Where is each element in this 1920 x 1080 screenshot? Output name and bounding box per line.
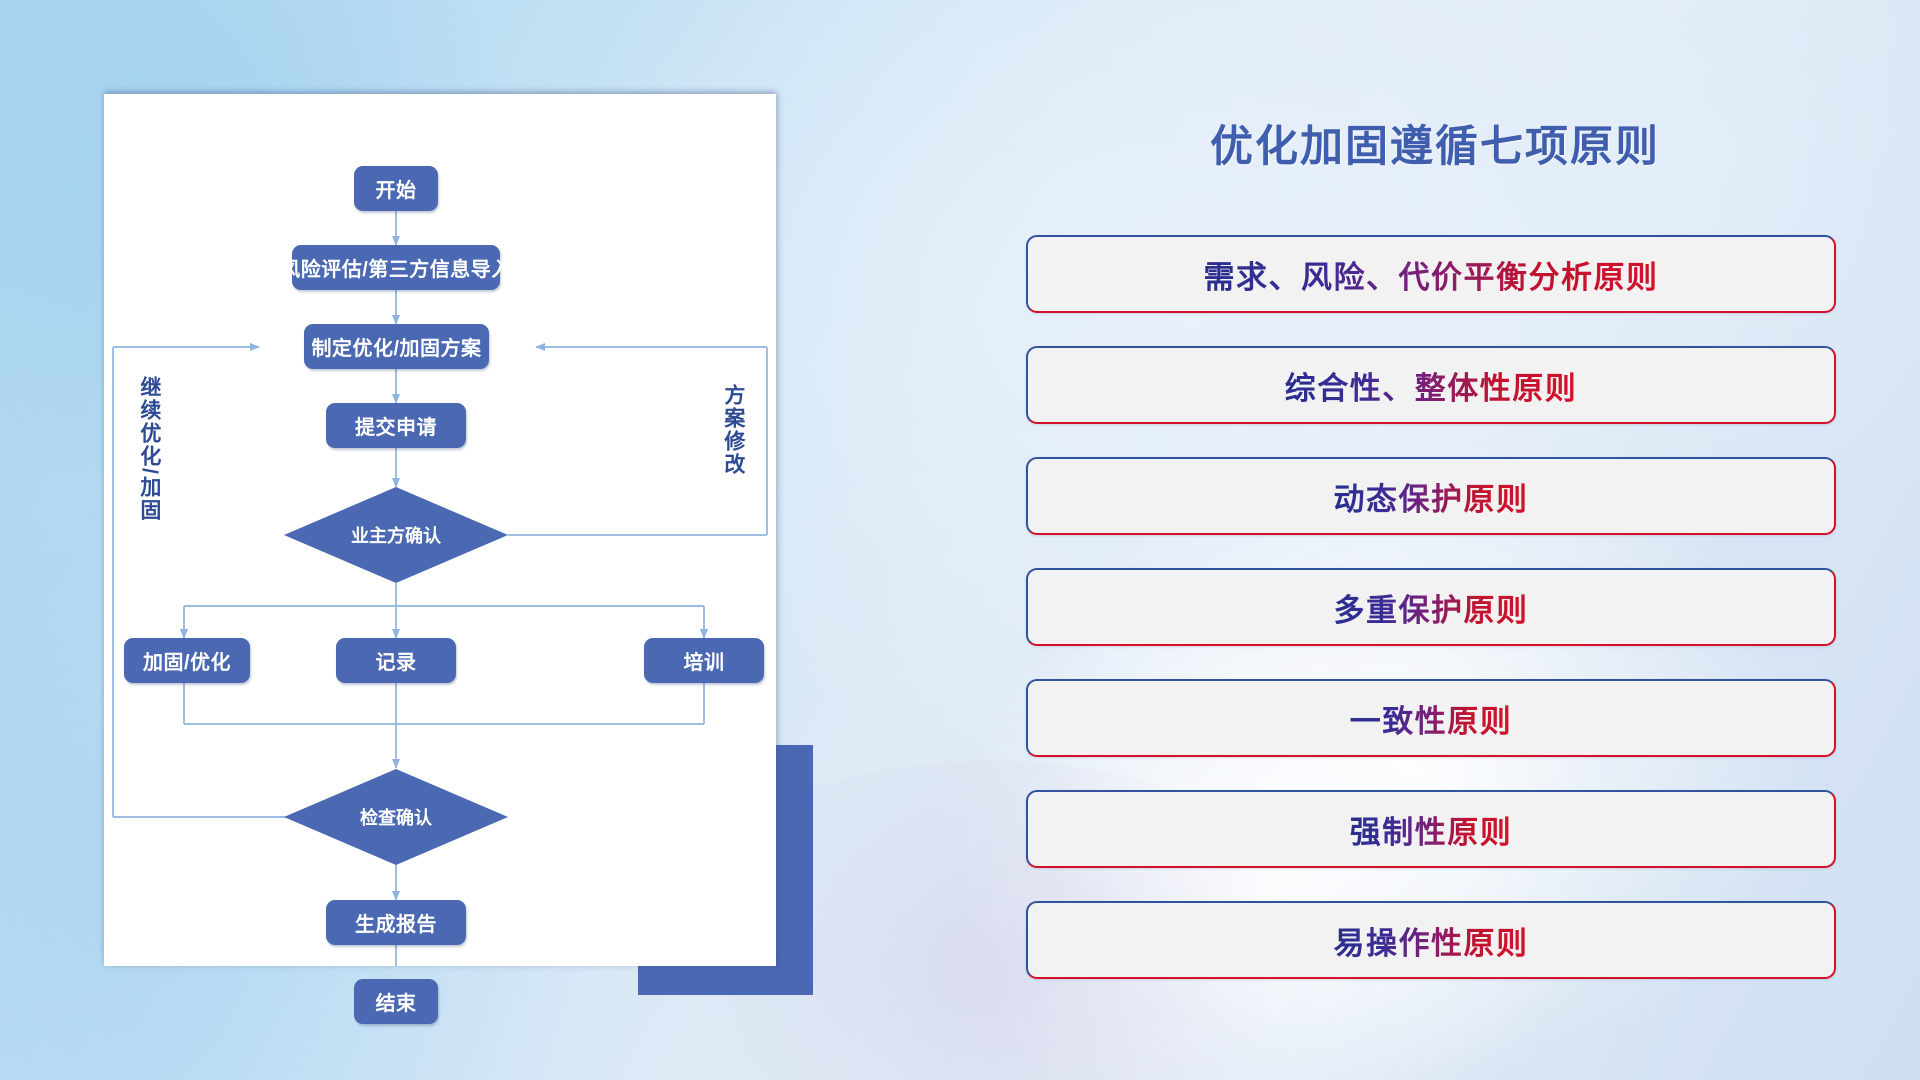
decision-check-confirm-shape <box>284 769 508 865</box>
principle-card-label: 综合性、整体性原则 <box>1285 363 1578 408</box>
principle-card-label: 动态保护原则 <box>1334 474 1529 519</box>
principle-card[interactable]: 动态保护原则 <box>1026 457 1836 535</box>
flow-node-record-label: 记录 <box>376 646 417 675</box>
flow-node-record[interactable]: 记录 <box>336 638 456 683</box>
loop-label-plan-revision: 方案修改 <box>722 384 744 476</box>
flow-node-reinforce-optimize[interactable]: 加固/优化 <box>124 638 250 683</box>
principles-panel: 优化加固遵循七项原则 需求、风险、代价平衡分析原则 综合性、整体性原则 动态保护… <box>1020 0 1920 1080</box>
principle-card[interactable]: 综合性、整体性原则 <box>1026 346 1836 424</box>
flow-node-submit-application[interactable]: 提交申请 <box>326 403 466 448</box>
flow-node-risk-assessment[interactable]: 风险评估/第三方信息导入 <box>292 245 500 290</box>
flow-node-training-label: 培训 <box>684 646 725 675</box>
flow-node-make-plan[interactable]: 制定优化/加固方案 <box>304 324 489 369</box>
principle-card-list: 需求、风险、代价平衡分析原则 综合性、整体性原则 动态保护原则 多重保护原则 一… <box>1026 235 1836 1012</box>
principle-card-label: 强制性原则 <box>1350 807 1513 852</box>
flowchart-canvas: 开始 风险评估/第三方信息导入 制定优化/加固方案 提交申请 业主方确认 加固/… <box>104 94 776 966</box>
principle-card-label: 一致性原则 <box>1350 696 1513 741</box>
principle-card-label: 易操作性原则 <box>1334 918 1529 963</box>
decision-owner-confirm-shape <box>284 487 508 583</box>
principle-card[interactable]: 一致性原则 <box>1026 679 1836 757</box>
panel-title: 优化加固遵循七项原则 <box>1020 112 1850 174</box>
flow-node-risk-assessment-label: 风险评估/第三方信息导入 <box>280 253 512 282</box>
flow-node-end-label: 结束 <box>376 987 417 1016</box>
principle-card[interactable]: 多重保护原则 <box>1026 568 1836 646</box>
flow-node-reinforce-optimize-label: 加固/优化 <box>143 646 231 675</box>
principle-card-label: 需求、风险、代价平衡分析原则 <box>1204 252 1659 297</box>
slide-root: 开始 风险评估/第三方信息导入 制定优化/加固方案 提交申请 业主方确认 加固/… <box>0 0 1920 1080</box>
principle-card[interactable]: 易操作性原则 <box>1026 901 1836 979</box>
flow-node-generate-report-label: 生成报告 <box>355 908 437 937</box>
principle-card[interactable]: 强制性原则 <box>1026 790 1836 868</box>
flow-node-submit-application-label: 提交申请 <box>355 411 437 440</box>
flow-node-generate-report[interactable]: 生成报告 <box>326 900 466 945</box>
principle-card[interactable]: 需求、风险、代价平衡分析原则 <box>1026 235 1836 313</box>
flow-node-end[interactable]: 结束 <box>354 979 438 1024</box>
flow-node-make-plan-label: 制定优化/加固方案 <box>311 332 481 361</box>
flowchart-connectors <box>104 94 776 966</box>
flow-node-training[interactable]: 培训 <box>644 638 764 683</box>
principle-card-label: 多重保护原则 <box>1334 585 1529 630</box>
flow-node-start-label: 开始 <box>376 174 417 203</box>
loop-label-continue-optimize: 继续优化/加固 <box>138 376 160 522</box>
flow-node-start[interactable]: 开始 <box>354 166 438 211</box>
